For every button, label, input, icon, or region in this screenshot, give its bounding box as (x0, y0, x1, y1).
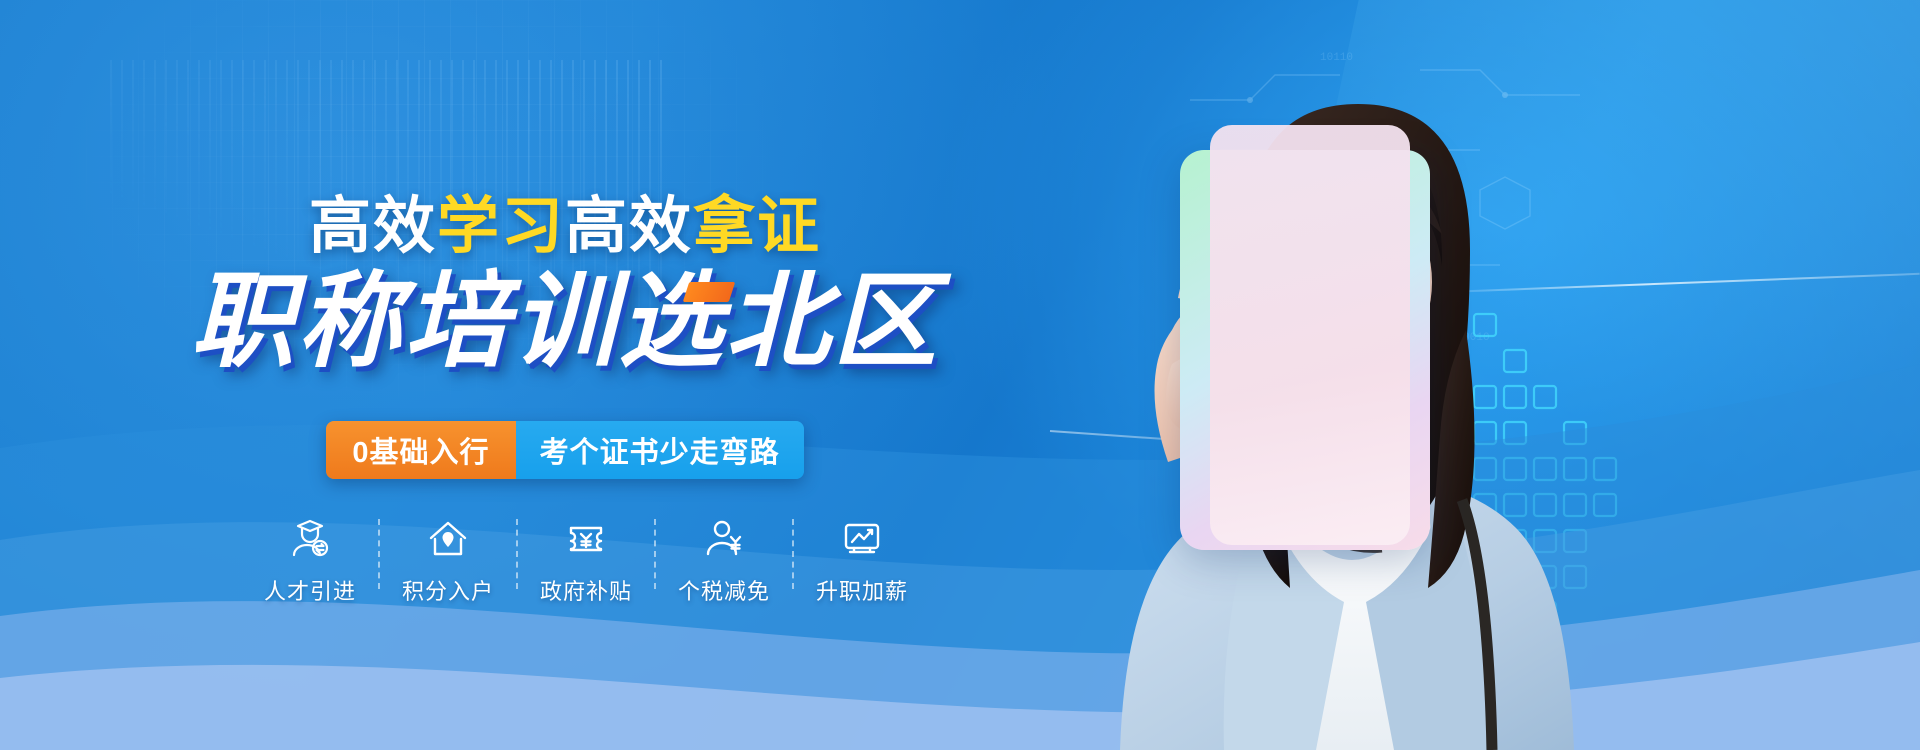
feature-label-talent: 人才引进 (264, 574, 356, 606)
headline-top-seg-3: 拿证 (693, 192, 821, 261)
person-yuan-icon (702, 515, 746, 563)
hero-photo (1060, 0, 1620, 750)
feature-label-promotion: 升职加薪 (816, 574, 908, 606)
orange-accent-mark (683, 282, 735, 302)
headline-top-seg-0: 高效 (309, 192, 437, 261)
feature-divider-4 (792, 519, 794, 589)
headline-top-seg-2: 高效 (565, 192, 693, 261)
feature-divider-1 (378, 519, 380, 589)
subtitle-badge: 0基础入行 考个证书少走弯路 (0, 421, 1130, 479)
headline-main-text: 职称培训选北区 (190, 264, 939, 380)
badge-left-label: 0基础入行 (326, 421, 515, 479)
gradient-card-front (1210, 125, 1410, 545)
headline-top: 高效学习高效拿证 (0, 196, 1130, 258)
feature-item-household[interactable]: 积分入户 (388, 515, 508, 606)
graduate-person-icon (288, 515, 332, 563)
chart-monitor-icon (840, 515, 884, 563)
feature-item-talent[interactable]: 人才引进 (250, 515, 370, 606)
feature-divider-2 (516, 519, 518, 589)
feature-divider-3 (654, 519, 656, 589)
badge-inner: 0基础入行 考个证书少走弯路 (326, 421, 803, 479)
headline-main: 职称培训选北区 (0, 270, 1130, 374)
feature-label-tax: 个税减免 (678, 574, 770, 606)
feature-label-household: 积分入户 (402, 574, 494, 606)
voucher-yuan-icon (564, 515, 608, 563)
headline-top-seg-1: 学习 (437, 192, 565, 261)
badge-right-label: 考个证书少走弯路 (516, 421, 804, 479)
promo-banner: 10110 0101101 110010 (0, 0, 1920, 750)
feature-item-tax[interactable]: 个税减免 (664, 515, 784, 606)
feature-label-subsidy: 政府补贴 (540, 574, 632, 606)
feature-item-subsidy[interactable]: 政府补贴 (526, 515, 646, 606)
feature-list: 人才引进 积分入户 (250, 515, 950, 606)
feature-item-promotion[interactable]: 升职加薪 (802, 515, 922, 606)
banner-content: 高效学习高效拿证 职称培训选北区 0基础入行 考个证书少走弯路 (0, 0, 1130, 750)
house-pin-icon (426, 515, 470, 563)
